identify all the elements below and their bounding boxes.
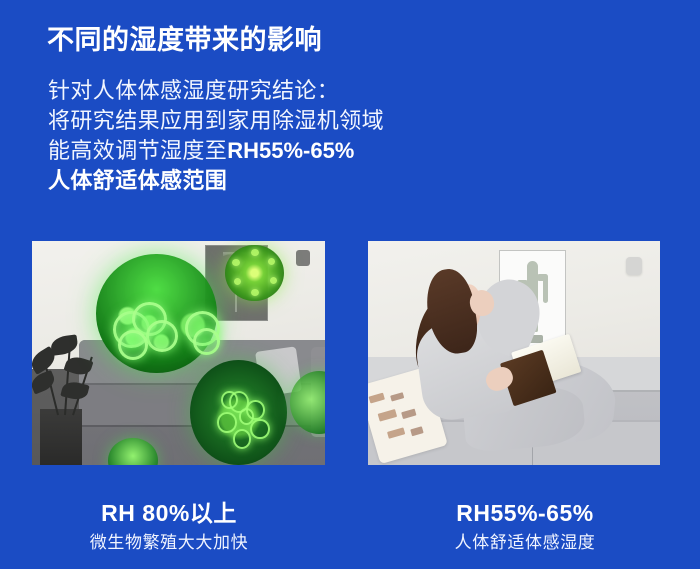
humidity-infographic-poster: 不同的湿度带来的影响 针对人体体感湿度研究结论： 将研究结果应用到家用除湿机领域…	[0, 0, 700, 569]
plant-leaf	[50, 334, 80, 356]
photo-comfort-humidity	[368, 241, 660, 465]
microbe-sphere-lower-icon	[190, 360, 287, 465]
copy-line-2: 将研究结果应用到家用除湿机领域	[48, 106, 468, 136]
microbe-ring	[221, 391, 238, 409]
photo-comparison-row	[0, 241, 700, 465]
microbe-ring	[217, 412, 236, 433]
bright-living-room-scene	[368, 241, 660, 465]
microbe-spike	[251, 249, 259, 256]
microbe-spike	[268, 258, 276, 265]
microbe-cell	[146, 320, 178, 352]
pillow-pattern	[369, 393, 386, 404]
plant-pot	[40, 409, 83, 465]
microbe-spike	[270, 277, 277, 284]
caption-subtext: 人体舒适体感湿度	[350, 530, 700, 556]
caption-comfort-humidity: RH55%-65% 人体舒适体感湿度	[350, 498, 700, 556]
microbe-cell	[118, 330, 148, 360]
potted-plant	[32, 326, 105, 465]
wall-thermostat-icon	[626, 257, 642, 275]
microbe-ring	[250, 419, 269, 440]
microbe-ring	[239, 408, 255, 425]
caption-high-humidity: RH 80%以上 微生物繁殖大大加快	[0, 498, 344, 556]
wall-outlet-icon	[296, 250, 310, 266]
caption-headline: RH 80%以上	[0, 498, 344, 528]
microbe-spike	[234, 278, 241, 285]
copy-line-3-prefix: 能高效调节湿度至	[48, 138, 227, 163]
caption-subtext: 微生物繁殖大大加快	[0, 530, 344, 556]
photo-high-humidity	[32, 241, 325, 465]
body-copy-block: 针对人体体感湿度研究结论： 将研究结果应用到家用除湿机领域 能高效调节湿度至RH…	[48, 76, 468, 196]
woman-reading	[397, 263, 619, 465]
microbe-spike	[232, 259, 240, 266]
page-title: 不同的湿度带来的影响	[47, 18, 322, 57]
pillow-pattern	[378, 410, 398, 422]
copy-line-1: 针对人体体感湿度研究结论：	[48, 76, 468, 106]
microbe-spike	[251, 289, 259, 296]
caption-headline: RH55%-65%	[350, 498, 700, 528]
microbe-sphere-large-icon	[96, 254, 216, 373]
dark-living-room-scene	[32, 241, 325, 465]
copy-line-3-emphasis: RH55%-65%	[227, 138, 354, 163]
copy-line-3: 能高效调节湿度至RH55%-65%	[48, 136, 468, 166]
microbe-ring	[233, 429, 252, 449]
copy-line-4: 人体舒适体感范围	[48, 166, 468, 196]
caption-row: RH 80%以上 微生物繁殖大大加快 RH55%-65% 人体舒适体感湿度	[0, 498, 700, 569]
